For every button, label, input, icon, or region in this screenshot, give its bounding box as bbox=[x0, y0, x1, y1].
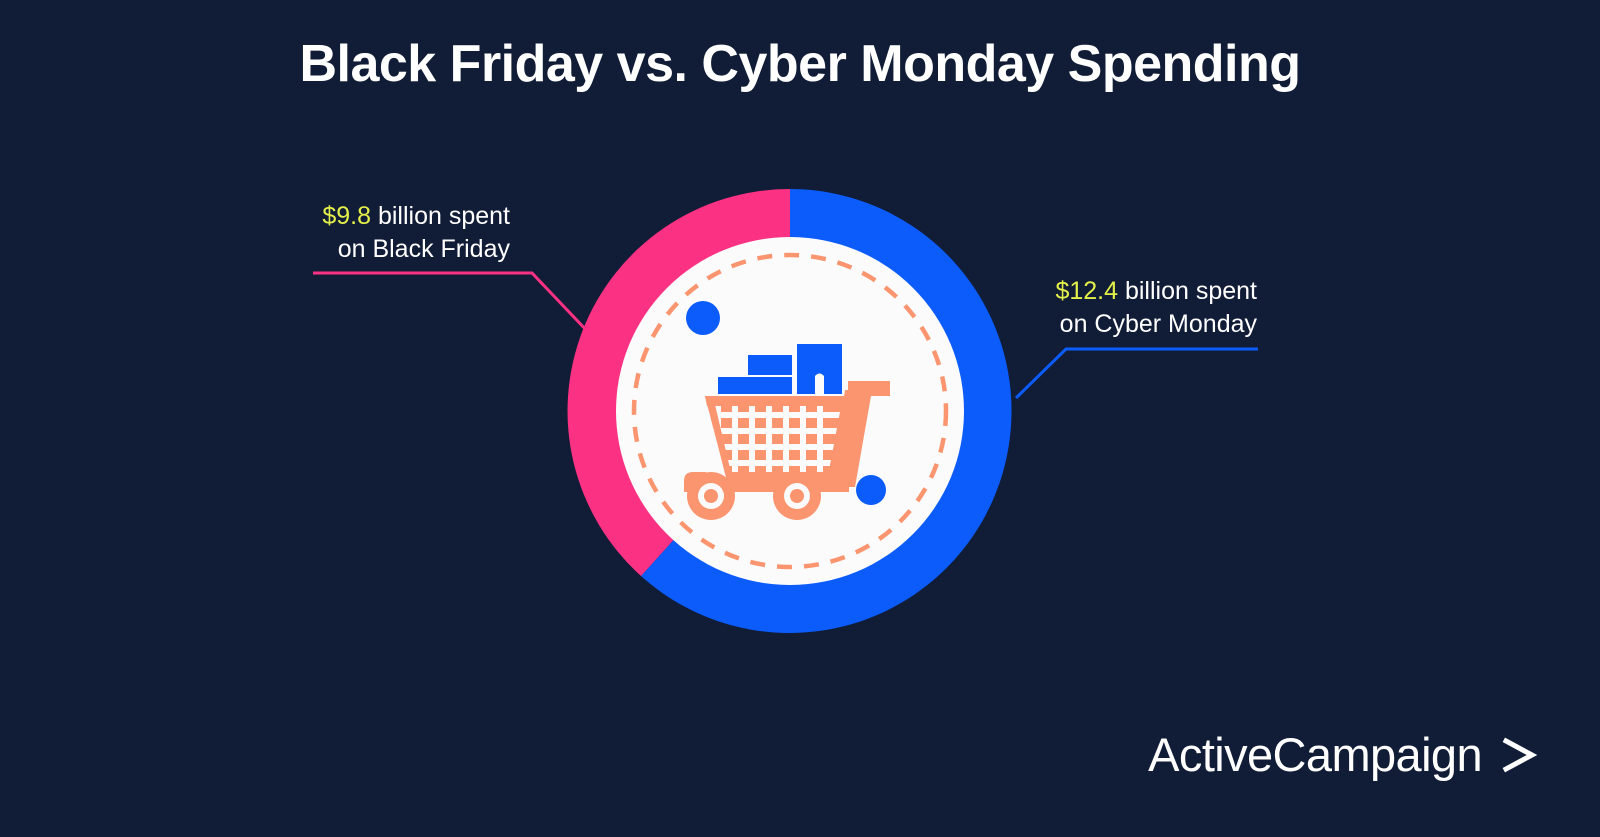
leader-line-black-friday bbox=[313, 273, 589, 333]
decorative-dot-icon bbox=[856, 475, 886, 505]
cart-item-bar-icon bbox=[748, 355, 792, 375]
callout-cyber-monday-line1: $12.4 billion spent bbox=[1010, 275, 1257, 308]
callout-black-friday-line1: $9.8 billion spent bbox=[255, 200, 510, 233]
cart-basket-rim bbox=[705, 396, 851, 406]
decorative-dot-icon bbox=[686, 301, 720, 335]
chevron-right-icon bbox=[1496, 732, 1542, 778]
leader-line-cyber-monday bbox=[1016, 349, 1258, 398]
donut-chart-svg bbox=[0, 0, 1600, 837]
cart-box-icon bbox=[797, 344, 842, 394]
callout-black-friday-amount: $9.8 bbox=[322, 202, 371, 230]
callout-black-friday-line1-rest: billion spent bbox=[371, 202, 510, 230]
callout-black-friday: $9.8 billion spent on Black Friday bbox=[255, 200, 510, 266]
infographic-canvas: Black Friday vs. Cyber Monday Spending bbox=[0, 0, 1600, 837]
cart-wheel-icon bbox=[687, 472, 735, 520]
brand-wordmark: ActiveCampaign bbox=[1148, 727, 1482, 782]
callout-cyber-monday-line2: on Cyber Monday bbox=[1010, 308, 1257, 341]
donut-chart bbox=[0, 0, 1600, 837]
callout-cyber-monday-amount: $12.4 bbox=[1055, 277, 1118, 305]
cart-wheel-icon bbox=[773, 472, 821, 520]
brand-logo: ActiveCampaign bbox=[1148, 727, 1542, 782]
callout-cyber-monday-line1-rest: billion spent bbox=[1118, 277, 1257, 305]
callout-black-friday-line2: on Black Friday bbox=[255, 233, 510, 266]
cart-item-bar-icon bbox=[718, 377, 792, 394]
callout-cyber-monday: $12.4 billion spent on Cyber Monday bbox=[1010, 275, 1257, 341]
